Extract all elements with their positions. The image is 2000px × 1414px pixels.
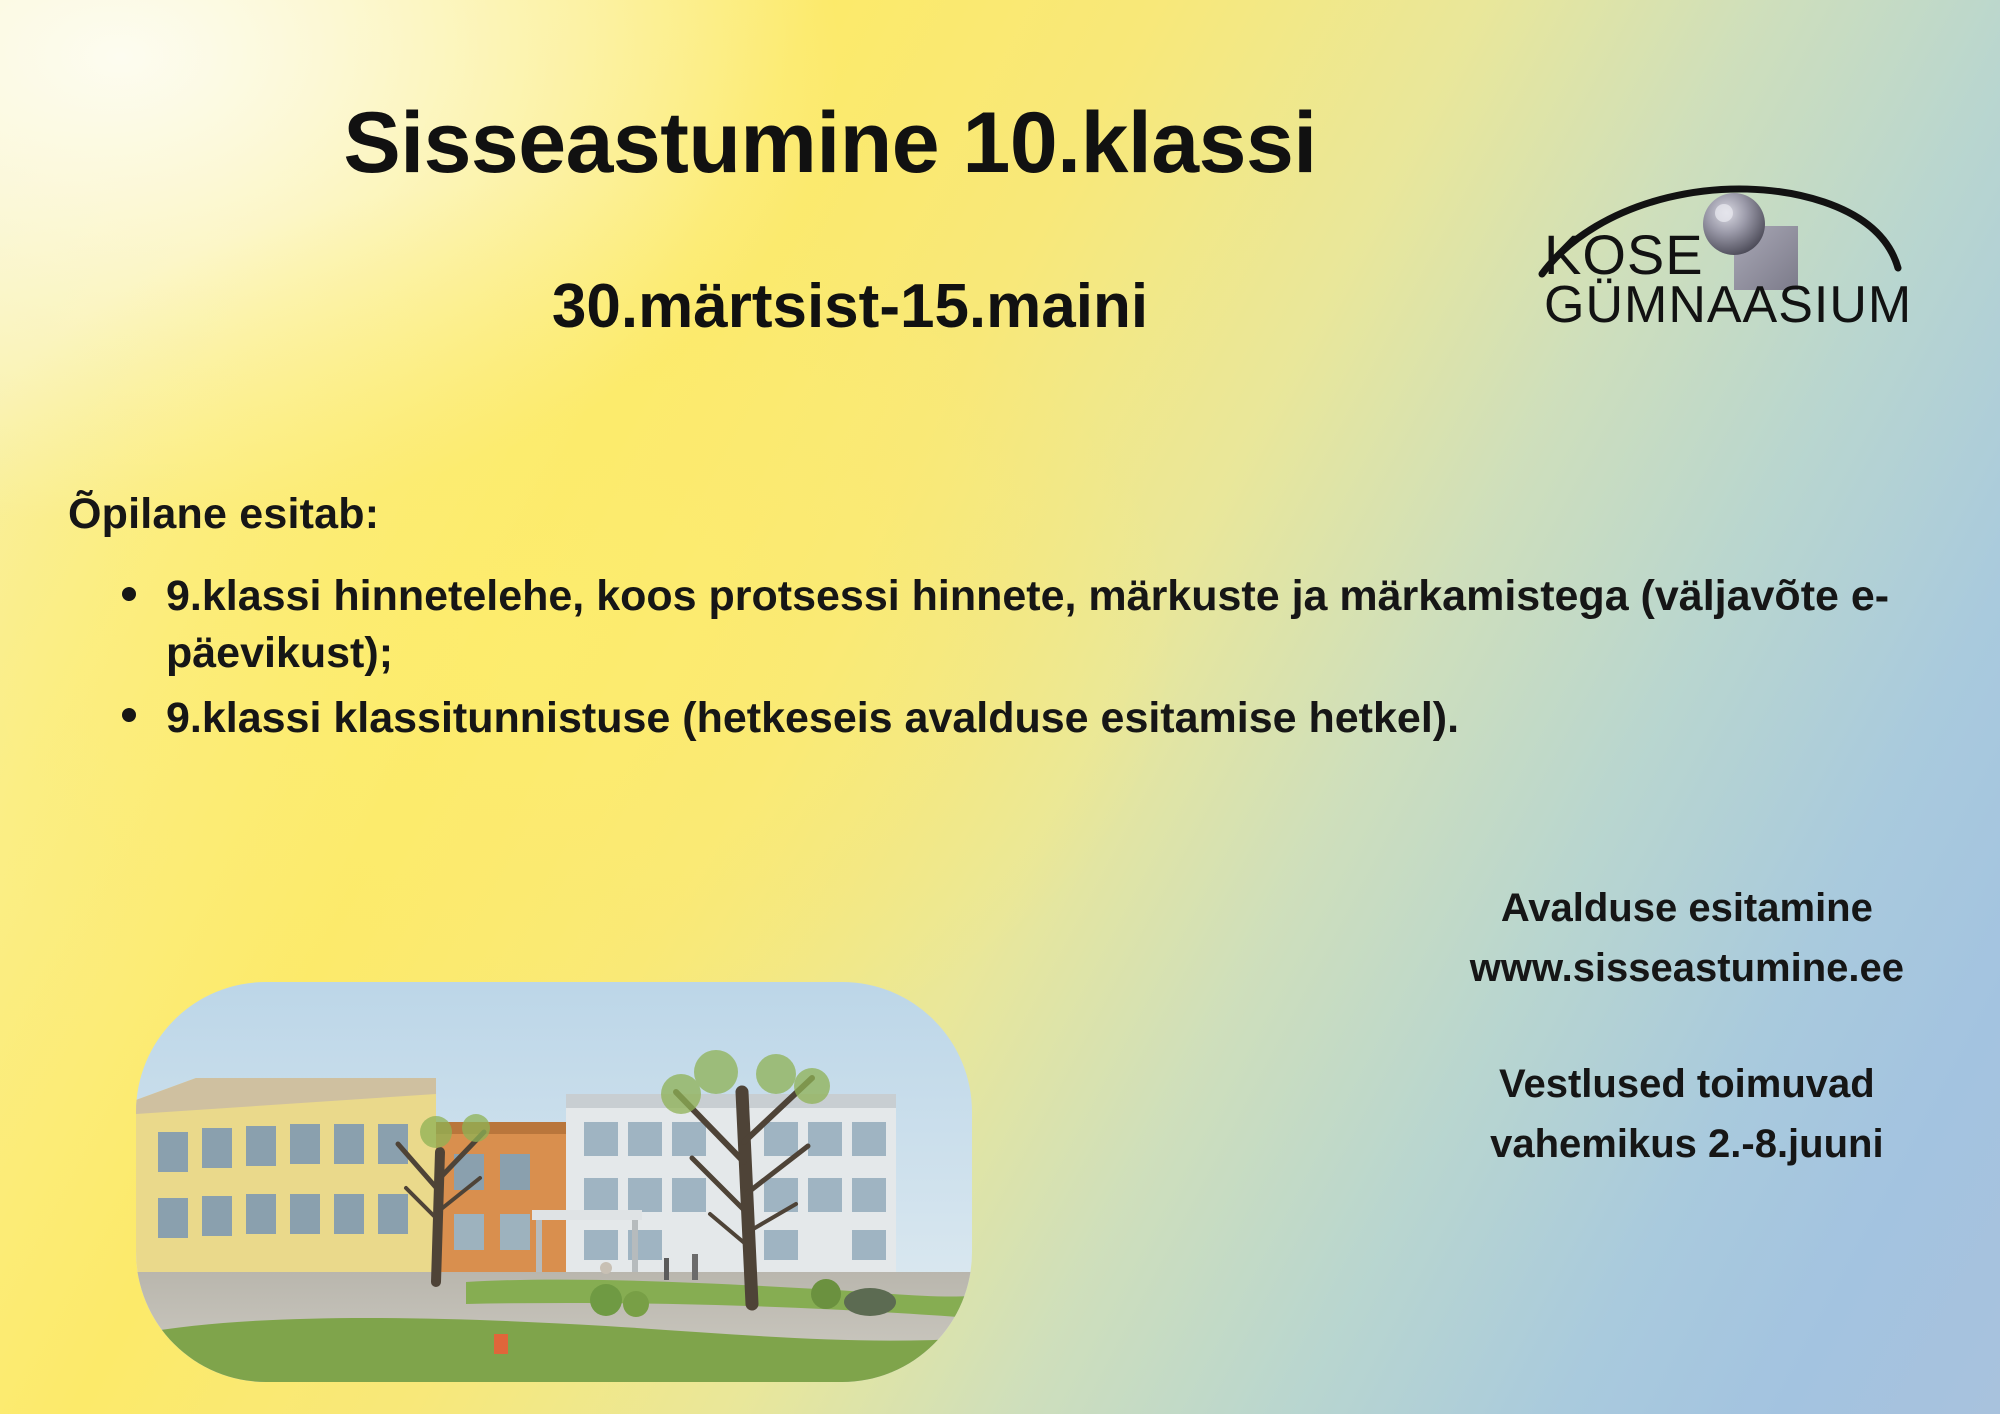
lead-text: Õpilane esitab: [68,490,379,539]
page-title: Sisseastumine 10.klassi [0,100,1660,186]
logo-line2: GÜMNAASIUM [1544,276,1912,334]
bullet-dot-icon [122,587,136,601]
list-item: 9.klassi hinnetelehe, koos protsessi hin… [108,568,1948,682]
poster-canvas: Sisseastumine 10.klassi 30.märtsist-15.m… [0,0,2000,1414]
bullet-dot-icon [122,708,136,722]
list-item-label: 9.klassi klassitunnistuse (hetkeseis ava… [166,694,1459,742]
school-building-photo [136,982,972,1382]
kose-gumnaasium-logo: KOSE GÜMNAASIUM KOSE GÜMNAASIUM [1538,182,1978,372]
list-item: 9.klassi klassitunnistuse (hetkeseis ava… [108,690,1948,747]
application-heading: Avalduse esitamine [1470,878,1904,938]
interview-dates: vahemikus 2.-8.juuni [1470,1114,1904,1174]
list-item-label: 9.klassi hinnetelehe, koos protsessi hin… [166,572,1889,677]
application-url: www.sisseastumine.ee [1470,938,1904,998]
interview-heading: Vestlused toimuvad [1470,1054,1904,1114]
info-block: Avalduse esitamine www.sisseastumine.ee … [1470,878,1904,1174]
page-subtitle: 30.märtsist-15.maini [0,276,1700,338]
spacer [1470,998,1904,1054]
requirements-list: 9.klassi hinnetelehe, koos protsessi hin… [108,568,1948,754]
